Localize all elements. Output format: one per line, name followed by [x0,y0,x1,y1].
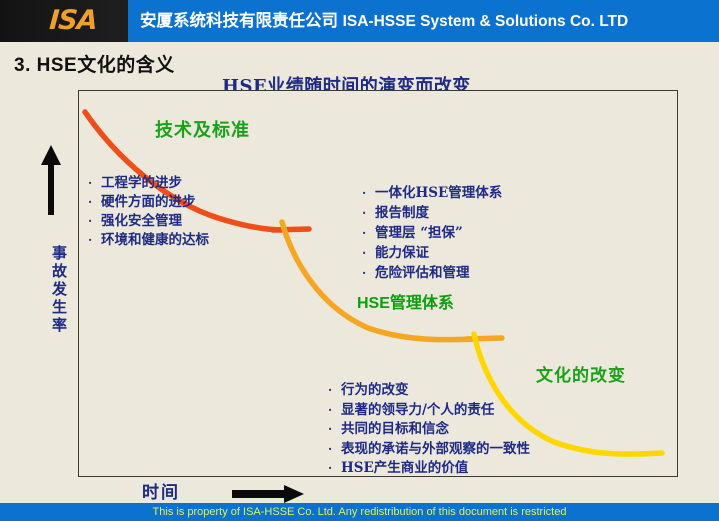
bullet-dot-icon: · [328,440,341,460]
bullet-dot-icon: · [88,212,101,231]
slide-title: 3. HSE文化的含义 [14,50,175,77]
bullet-group-culture-change: · 行为的改变 · 显著的领导力/个人的责任 · 共同的目标和信念 · 表现的承… [328,381,530,479]
bullet-dot-icon: · [88,231,101,250]
bullet-dot-icon: · [88,174,101,193]
list-item: · 硬件方面的进步 [88,193,209,212]
y-axis-arrow-icon [40,145,62,215]
x-axis-label: 时间 [142,478,180,503]
bullet-text: 报告制度 [375,203,429,223]
x-axis-arrow-icon [232,485,304,503]
bullet-text: 危险评估和管理 [375,263,470,283]
bullet-dot-icon: · [328,401,341,421]
bullet-dot-icon: · [362,183,375,203]
bullet-text: 能力保证 [375,243,429,263]
bullet-text: 硬件方面的进步 [101,193,196,212]
bullet-text: 一体化HSE管理体系 [375,183,502,203]
list-item: · 一体化HSE管理体系 [362,183,502,203]
bullet-group-management-system: · 一体化HSE管理体系 · 报告制度 · 管理层 “担保” · 能力保证 · … [362,183,502,283]
bullet-text: 环境和健康的达标 [101,231,209,250]
list-item: · 强化安全管理 [88,212,209,231]
y-axis-label: 事故发生率 [30,245,70,335]
isa-logo: ISA [29,6,117,36]
list-item: · HSE产生商业的价值 [328,459,530,479]
list-item: · 行为的改变 [328,381,530,401]
bullet-text: 工程学的进步 [101,174,182,193]
list-item: · 显著的领导力/个人的责任 [328,401,530,421]
phase-label-culture-change: 文化的改变 [536,361,626,386]
header-bar: ISA 安厦系统科技有限责任公司 ISA-HSSE System & Solut… [0,0,719,42]
list-item: · 管理层 “担保” [362,223,502,243]
list-item: · 环境和健康的达标 [88,231,209,250]
slide-canvas: ISA 安厦系统科技有限责任公司 ISA-HSSE System & Solut… [0,0,719,521]
bullet-text: 显著的领导力/个人的责任 [341,401,494,421]
list-item: · 工程学的进步 [88,174,209,193]
bullet-dot-icon: · [328,420,341,440]
bullet-text: 行为的改变 [341,381,409,401]
bullet-dot-icon: · [328,459,341,479]
bullet-dot-icon: · [362,243,375,263]
bullet-group-technology: · 工程学的进步 · 硬件方面的进步 · 强化安全管理 · 环境和健康的达标 [88,174,209,250]
bullet-dot-icon: · [362,203,375,223]
header-company-en: ISA-HSSE System & Solutions Co. LTD [343,13,629,30]
bullet-dot-icon: · [362,263,375,283]
list-item: · 表现的承诺与外部观察的一致性 [328,440,530,460]
bullet-dot-icon: · [88,193,101,212]
bullet-dot-icon: · [362,223,375,243]
bullet-text: 共同的目标和信念 [341,420,449,440]
list-item: · 能力保证 [362,243,502,263]
bullet-text: HSE产生商业的价值 [341,459,468,479]
bullet-dot-icon: · [328,381,341,401]
list-item: · 报告制度 [362,203,502,223]
header-company-cn: 安厦系统科技有限责任公司 [140,12,338,30]
list-item: · 共同的目标和信念 [328,420,530,440]
bullet-text: 管理层 “担保” [375,223,463,243]
phase-label-technology: 技术及标准 [155,116,250,142]
bullet-text: 表现的承诺与外部观察的一致性 [341,440,530,460]
list-item: · 危险评估和管理 [362,263,502,283]
header-company-title: 安厦系统科技有限责任公司 ISA-HSSE System & Solutions… [140,0,628,42]
bullet-text: 强化安全管理 [101,212,182,231]
footer-copyright-text: This is property of ISA-HSSE Co. Ltd. An… [0,503,719,521]
phase-label-management-system: HSE管理体系 [357,289,454,313]
